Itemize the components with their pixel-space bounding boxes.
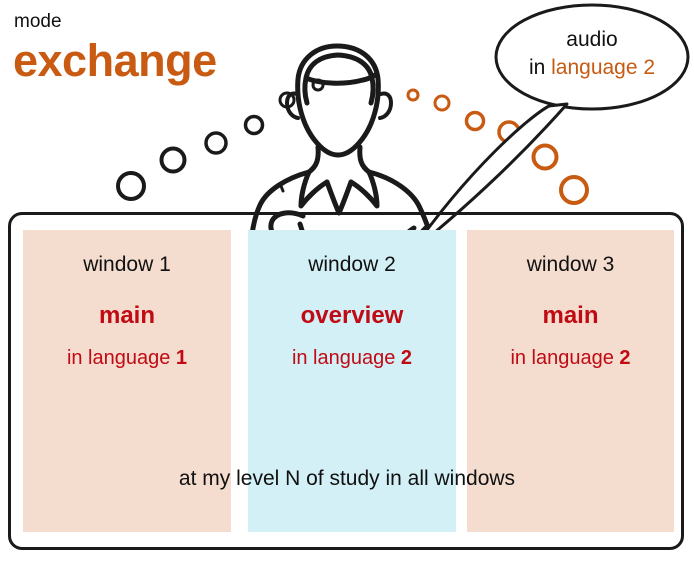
speech-bubble-text: audio in language 2 [498,26,686,81]
window-panel-2-language-number: 2 [401,347,412,369]
window-panel-3-language-number: 2 [619,347,630,369]
window-panel-1-title: window 1 [23,254,231,275]
footer-note: at my level N of study in all windows [0,468,694,489]
window-panel-3-title: window 3 [467,254,674,275]
mode-title: exchange [13,38,217,83]
window-panel-1-language-prefix: in language [67,347,176,369]
window-panel-1-language-number: 1 [176,347,187,369]
window-panel-3-kind: main [467,304,674,328]
speech-bubble-line-1: audio [566,28,617,51]
mode-label: mode [14,12,62,31]
window-panel-1-kind: main [23,304,231,328]
window-panel-1-language: in language 1 [23,348,231,368]
window-panel-2-kind: overview [248,304,456,328]
window-panel-2-language: in language 2 [248,348,456,368]
window-panel-3-language: in language 2 [467,348,674,368]
black-circle-arc-icon [118,80,323,199]
orange-circle-arc-icon [408,90,587,203]
diagram-canvas: mode exchange [0,0,694,564]
window-panel-2-title: window 2 [248,254,456,275]
window-panel-3-language-prefix: in language [510,347,619,369]
speech-bubble-line-2-prefix: in [529,56,551,79]
speech-bubble-line-2-accent: language 2 [551,56,655,79]
window-panel-2-language-prefix: in language [292,347,401,369]
